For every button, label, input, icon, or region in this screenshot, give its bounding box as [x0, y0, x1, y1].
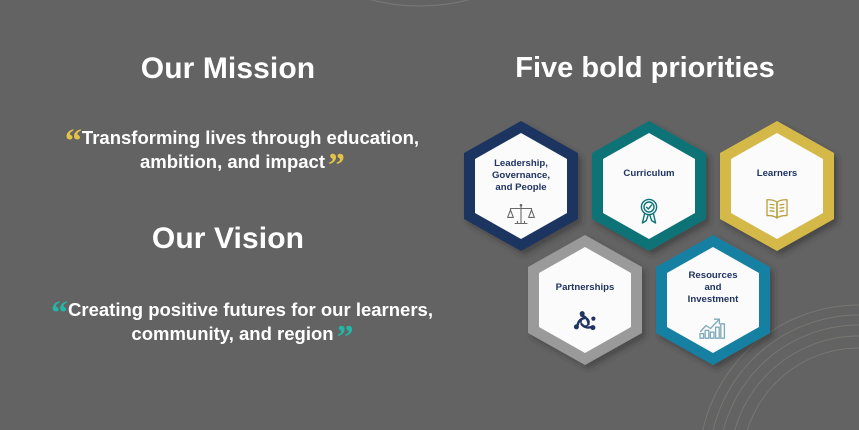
priorities-hexagon-grid: Leadership, Governance, and People [440, 108, 859, 398]
vision-quote: “Creating positive futures for our learn… [28, 298, 456, 346]
hexagon-partnerships[interactable]: Partnerships [526, 234, 644, 366]
quote-close-icon: ” [328, 147, 344, 184]
hexagon-learners[interactable]: Learners [718, 120, 836, 252]
hexagon-leadership-governance-and-people[interactable]: Leadership, Governance, and People [462, 120, 580, 252]
slide-canvas: Our Mission “Transforming lives through … [0, 0, 859, 430]
our-mission-heading: Our Mission [28, 52, 428, 86]
mission-quote: “Transforming lives through education, a… [28, 126, 456, 174]
vision-quote-text: Creating positive futures for our learne… [68, 299, 433, 344]
our-vision-heading: Our Vision [28, 222, 428, 256]
quote-open-icon: “ [51, 295, 67, 332]
hexagon-resources-and-investment[interactable]: Resources and Investment [654, 234, 772, 366]
quote-open-icon: “ [65, 123, 81, 160]
mission-vision-column: Our Mission “Transforming lives through … [28, 0, 428, 430]
mission-quote-text: Transforming lives through education, am… [82, 127, 419, 172]
quote-close-icon: ” [337, 319, 353, 356]
hexagon-curriculum[interactable]: Curriculum [590, 120, 708, 252]
five-bold-priorities-title: Five bold priorities [440, 52, 850, 85]
